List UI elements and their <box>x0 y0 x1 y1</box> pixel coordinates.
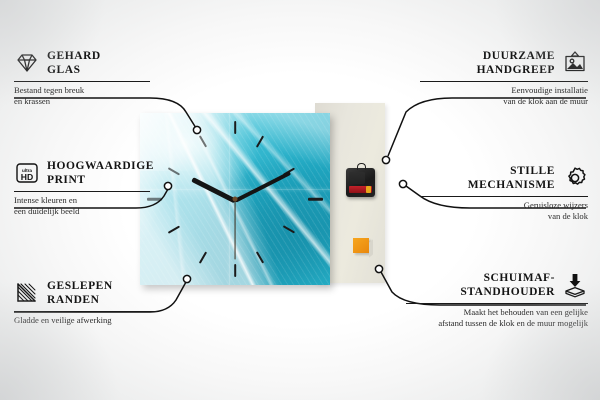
feature-hoogwaardige-print: ultra HD HOOGWAARDIGE PRINT Intense kleu… <box>14 160 166 216</box>
feature-title: DUURZAME HANDGREEP <box>477 50 555 77</box>
feature-description: Bestand tegen breuk en krassen <box>14 85 164 106</box>
feature-gehard-glas: GEHARD GLAS Bestand tegen breuk en krass… <box>14 50 164 106</box>
diamond-icon <box>14 50 40 76</box>
feature-description: Gladde en veilige afwerking <box>14 315 166 326</box>
feature-geslepen-randen: GESLEPEN RANDEN Gladde en veilige afwerk… <box>14 280 166 326</box>
feature-stille-mechanisme: STILLE MECHANISME Geruisloze wijzers van… <box>420 165 588 221</box>
divider <box>14 191 150 192</box>
feature-header: SCHUIMAF- STANDHOUDER <box>406 272 588 299</box>
infographic-canvas: GEHARD GLAS Bestand tegen breuk en krass… <box>0 0 600 400</box>
feature-description: Geruisloze wijzers van de klok <box>420 200 588 221</box>
divider <box>14 81 150 82</box>
feature-header: GESLEPEN RANDEN <box>14 280 166 307</box>
divider <box>406 303 588 304</box>
divider <box>420 196 588 197</box>
ultra-hd-icon: ultra HD <box>14 160 40 186</box>
feature-header: GEHARD GLAS <box>14 50 164 77</box>
feature-schuimafstandhouder: SCHUIMAF- STANDHOUDER Maakt het behouden… <box>406 272 588 328</box>
feature-description: Maakt het behouden van een gelijke afsta… <box>406 307 588 328</box>
beveled-edge-icon <box>14 280 40 306</box>
divider <box>14 311 157 312</box>
feature-header: DUURZAME HANDGREEP <box>420 50 588 77</box>
feature-title: STILLE MECHANISME <box>468 165 555 192</box>
divider <box>420 81 588 82</box>
gear-icon <box>562 165 588 191</box>
feature-title: GESLEPEN RANDEN <box>47 280 113 307</box>
feature-description: Intense kleuren en een duidelijk beeld <box>14 195 166 216</box>
framed-picture-icon <box>562 50 588 76</box>
feature-title: SCHUIMAF- STANDHOUDER <box>460 272 555 299</box>
svg-text:HD: HD <box>21 172 33 182</box>
feature-title: GEHARD GLAS <box>47 50 101 77</box>
feature-header: STILLE MECHANISME <box>420 165 588 192</box>
press-pad-icon <box>562 272 588 298</box>
feature-title: HOOGWAARDIGE PRINT <box>47 160 154 187</box>
feature-description: Eenvoudige installatie van de klok aan d… <box>420 85 588 106</box>
feature-duurzame-handgreep: DUURZAME HANDGREEP Eenvoudige installati… <box>420 50 588 106</box>
feature-header: ultra HD HOOGWAARDIGE PRINT <box>14 160 166 187</box>
